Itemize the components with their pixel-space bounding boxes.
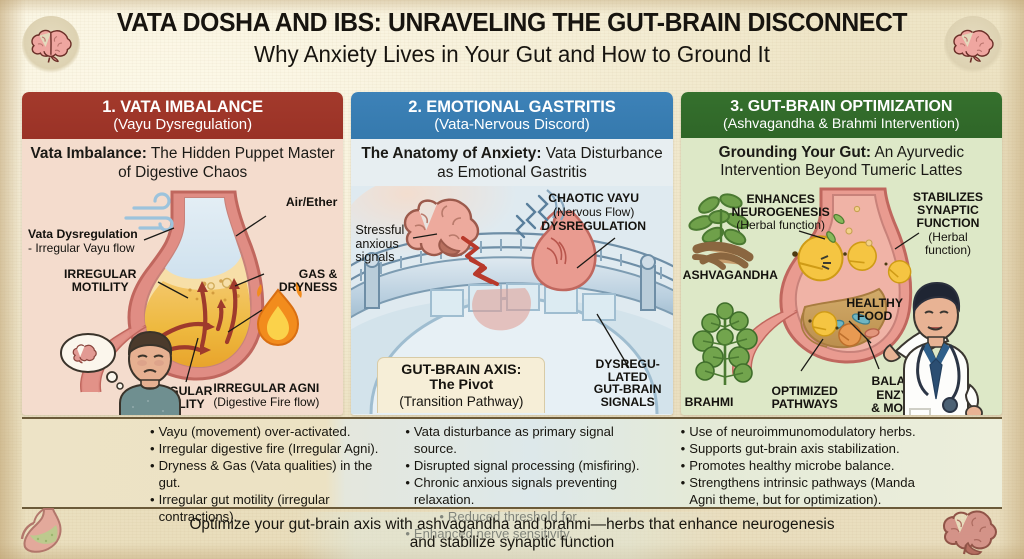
bullets-column-1: •Vayu (movement) over-activated. •Irregu… (22, 419, 399, 507)
infographic-poster: VATA DOSHA AND IBS: UNRAVELING THE GUT-B… (0, 0, 1024, 559)
bullet-text: Use of neuroimmunomodulatory herbs. (689, 423, 915, 440)
label-gas-dryness: GAS & DRYNESS (279, 268, 337, 294)
bullet-dot: • (405, 423, 410, 457)
panel1-subtitle: (Vayu Dysregulation) (28, 116, 337, 133)
pivot-line-2: The Pivot (382, 378, 540, 394)
bullet-dot: • (681, 474, 686, 508)
list-item: •Strengthens intrinsic pathways (Manda A… (681, 474, 926, 508)
label-enhances-neurogenesis-sub: (Herbal function) (717, 219, 845, 232)
panel3-subtitle: (Ashvagandha & Brahmi Intervention) (687, 116, 996, 132)
brain-icon (22, 16, 80, 74)
label-optimized-pathways: OPTIMIZED PATHWAYS (755, 385, 855, 411)
panel1-title: 1. VATA IMBALANCE (28, 98, 337, 116)
label-brahmi: BRAHMI (685, 396, 734, 409)
bullet-dot: • (405, 457, 410, 474)
columns-row: 1. VATA IMBALANCE (Vayu Dysregulation) V… (22, 92, 1002, 415)
label-stabilizes-synaptic-function: STABILIZES SYNAPTIC FUNCTION (896, 191, 1000, 231)
panel3-illustration: ENHANCES NEUROGENESIS (Herbal function) … (681, 185, 1002, 415)
bullet-text: Disrupted signal processing (misfiring). (414, 457, 640, 474)
bullet-text: Promotes healthy microbe balance. (689, 457, 894, 474)
label-enhances-neurogenesis: ENHANCES NEUROGENESIS (717, 193, 845, 219)
brain-icon (944, 16, 1002, 74)
panel2-subtitle: (Vata-Nervous Discord) (357, 116, 666, 133)
bullet-text: Chronic anxious signals preventing relax… (414, 474, 651, 508)
list-item: •Supports gut-brain axis stabilization. (681, 440, 926, 457)
bullet-dot: • (681, 440, 686, 457)
list-item: •Chronic anxious signals preventing rela… (405, 474, 650, 508)
gut-brain-axis-callout: GUT-BRAIN AXIS: The Pivot (Transition Pa… (377, 357, 545, 413)
page-title: VATA DOSHA AND IBS: UNRAVELING THE GUT-B… (108, 10, 915, 38)
bullet-text: Supports gut-brain axis stabilization. (689, 440, 899, 457)
label-chaotic-vayu-sub: (Nervous Flow) (519, 206, 669, 219)
list-item: •Irregular digestive fire (Irregular Agn… (150, 440, 395, 457)
label-air-ether: Air/Ether (286, 196, 337, 209)
panel2-lede: The Anatomy of Anxiety: Vata Disturbance… (351, 139, 672, 186)
list-item: •Dryness & Gas (Vata qualities) in the g… (150, 457, 395, 491)
stomach-icon (14, 507, 74, 553)
panel3-header: 3. GUT-BRAIN OPTIMIZATION (Ashvagandha &… (681, 92, 1002, 138)
bullets-column-3: •Use of neuroimmunomodulatory herbs. •Su… (655, 419, 1002, 507)
panel2-lede-bold: The Anatomy of Anxiety: (361, 145, 541, 162)
pivot-line-1: GUT-BRAIN AXIS: (382, 363, 540, 379)
panel-gut-brain-optimization: 3. GUT-BRAIN OPTIMIZATION (Ashvagandha &… (681, 92, 1002, 415)
bullet-dot: • (405, 474, 410, 508)
panel2-header: 2. EMOTIONAL GASTRITIS (Vata-Nervous Dis… (351, 92, 672, 139)
bullets-band: •Vayu (movement) over-activated. •Irregu… (22, 417, 1002, 509)
panel3-lede-bold: Grounding Your Gut: (719, 144, 871, 161)
label-irregular-agni: IRREGULAR AGNI (191, 382, 341, 395)
brain-icon (940, 507, 998, 555)
bullet-dot: • (150, 440, 155, 457)
footer-line-2: and stabilize synaptic function (22, 534, 1002, 552)
panel1-lede-rest: The Hidden Puppet Master of Digestive Ch… (118, 145, 335, 180)
bullets-column-2: •Vata disturbance as primary signal sour… (399, 419, 654, 507)
list-item: •Promotes healthy microbe balance. (681, 457, 926, 474)
poster-header: VATA DOSHA AND IBS: UNRAVELING THE GUT-B… (0, 0, 1024, 71)
bullet-text: Irregular digestive fire (Irregular Agni… (159, 440, 379, 457)
panel2-illustration: Stressful anxious signals CHAOTIC VAYU (… (351, 186, 672, 415)
bullet-text: Vata disturbance as primary signal sourc… (414, 423, 651, 457)
pivot-line-3: (Transition Pathway) (382, 394, 540, 409)
panel-emotional-gastritis: 2. EMOTIONAL GASTRITIS (Vata-Nervous Dis… (351, 92, 672, 415)
bullet-text: Strengthens intrinsic pathways (Manda Ag… (689, 474, 926, 508)
panel2-title: 2. EMOTIONAL GASTRITIS (357, 98, 666, 116)
panel1-illustration: Air/Ether Vata Dysregulation - Irregular… (22, 186, 343, 415)
bullet-dot: • (150, 457, 155, 491)
page-subtitle: Why Anxiety Lives in Your Gut and How to… (108, 41, 915, 67)
footer-caption: Optimize your gut-brain axis with ashvag… (22, 512, 1002, 559)
panel3-lede: Grounding Your Gut: An Ayurvedic Interve… (681, 138, 1002, 185)
footer-line-1: Optimize your gut-brain axis with ashvag… (22, 516, 1002, 534)
panel1-lede: Vata Imbalance: The Hidden Puppet Master… (22, 139, 343, 186)
label-chaotic-vayu: CHAOTIC VAYU (519, 192, 669, 205)
label-stressful-anxious-signals: Stressful anxious signals (355, 224, 404, 265)
doctor-figure-icon (870, 273, 1002, 415)
bullet-dot: • (681, 457, 686, 474)
label-irregular-motility-top: IRREGULAR MOTILITY (64, 268, 136, 294)
list-item: •Disrupted signal processing (misfiring)… (405, 457, 650, 474)
label-irregular-agni-sub: (Digestive Fire flow) (191, 396, 341, 409)
bullet-dot: • (681, 423, 686, 440)
label-dysregulation: DYSREGULATION (519, 220, 669, 233)
list-item: •Vayu (movement) over-activated. (150, 423, 395, 440)
label-vata-dysregulation: Vata Dysregulation (28, 228, 138, 241)
label-vata-dysregulation-sub: - Irregular Vayu flow (28, 242, 134, 255)
bullet-text: Vayu (movement) over-activated. (159, 423, 351, 440)
list-item: •Use of neuroimmunomodulatory herbs. (681, 423, 926, 440)
bullet-dot: • (150, 423, 155, 440)
label-stabilizes-synaptic-function-sub: (Herbal function) (896, 231, 1000, 257)
panel3-title: 3. GUT-BRAIN OPTIMIZATION (687, 98, 996, 116)
list-item: •Vata disturbance as primary signal sour… (405, 423, 650, 457)
patient-figure-icon (58, 331, 190, 415)
label-dysregulated-gut-brain-signals: DYSREGU- LATED GUT-BRAIN SIGNALS (585, 358, 671, 409)
bullet-text: Dryness & Gas (Vata qualities) in the gu… (159, 457, 396, 491)
panel1-lede-bold: Vata Imbalance: (31, 145, 147, 162)
label-ashvagandha: ASHVAGANDHA (683, 269, 778, 282)
panel-vata-imbalance: 1. VATA IMBALANCE (Vayu Dysregulation) V… (22, 92, 343, 415)
panel1-header: 1. VATA IMBALANCE (Vayu Dysregulation) (22, 92, 343, 139)
